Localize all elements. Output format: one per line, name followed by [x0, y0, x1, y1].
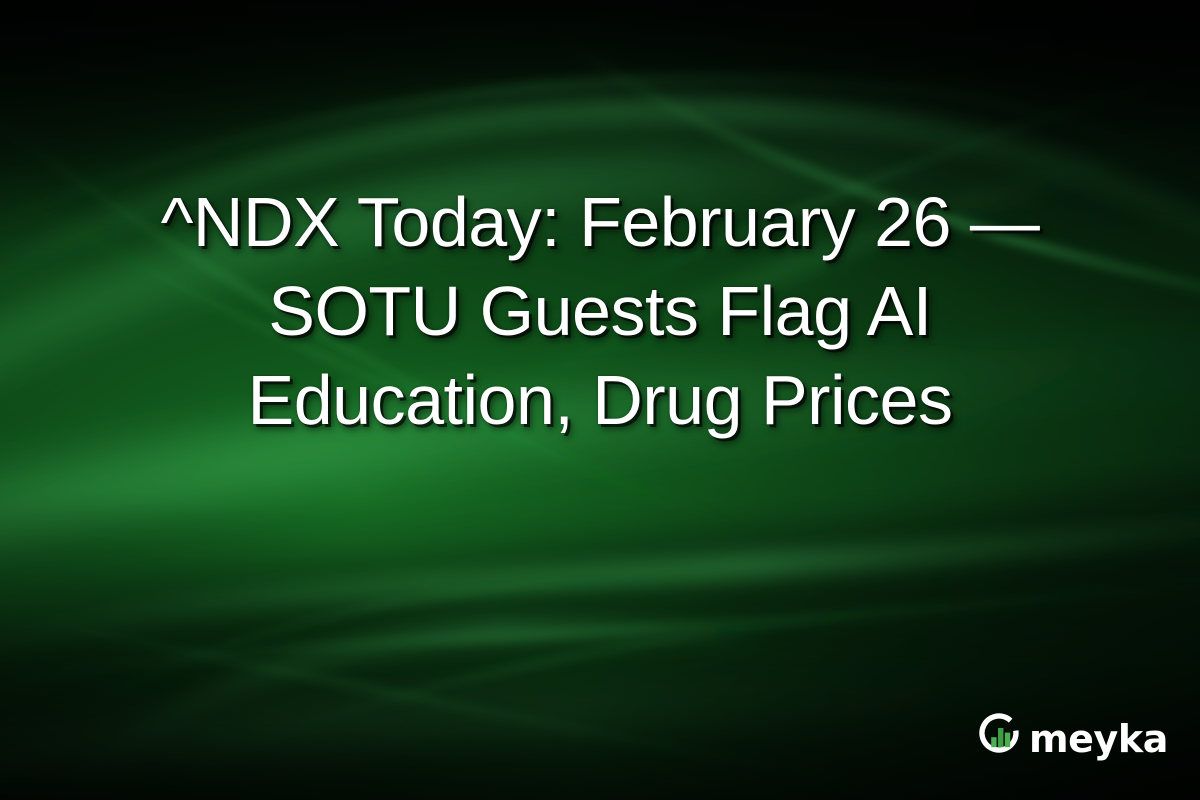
headline-text: ^NDX Today: February 26 — SOTU Guests Fl…	[60, 178, 1140, 445]
meyka-logo[interactable]: meyka	[978, 713, 1168, 762]
headline-container: ^NDX Today: February 26 — SOTU Guests Fl…	[0, 178, 1200, 445]
social-card: ^NDX Today: February 26 — SOTU Guests Fl…	[0, 0, 1200, 800]
meyka-bar-chart-ring-icon	[978, 713, 1022, 762]
meyka-wordmark: meyka	[1029, 720, 1168, 758]
